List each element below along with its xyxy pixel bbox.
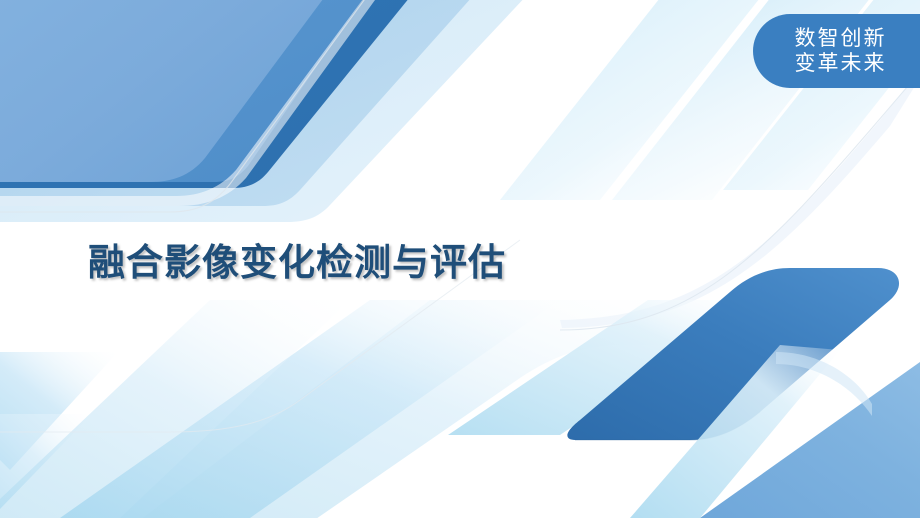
decor-hairline-top bbox=[0, 0, 386, 212]
brand-badge-line-2: 变革未来 bbox=[795, 51, 887, 76]
brand-badge-line-1: 数智创新 bbox=[795, 26, 887, 51]
decor-top-bands bbox=[0, 0, 560, 222]
decor-faint-sweep bbox=[560, 70, 920, 328]
decor-top-separator bbox=[0, 0, 404, 206]
slide-canvas: 数智创新 变革未来 融合影像变化检测与评估 bbox=[0, 0, 920, 518]
decor-lower-sweep bbox=[120, 300, 700, 518]
brand-badge: 数智创新 变革未来 bbox=[753, 14, 920, 88]
slide-title: 融合影像变化检测与评估 bbox=[88, 232, 506, 286]
decor-bottom-left-bands bbox=[0, 300, 920, 518]
decor-bottom-right bbox=[448, 72, 920, 518]
